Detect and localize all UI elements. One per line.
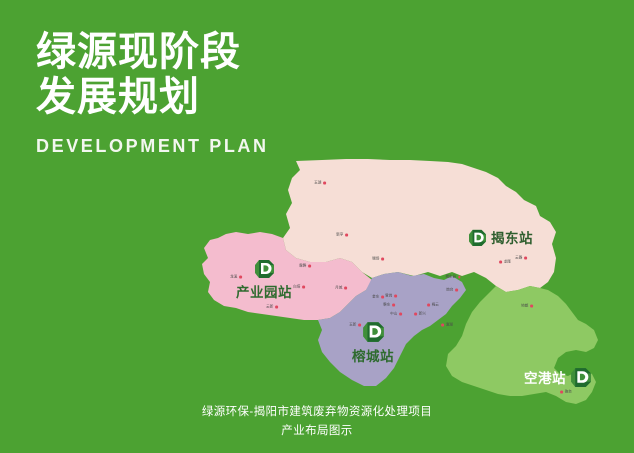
town-marker: 龙尾 bbox=[499, 260, 511, 265]
town-marker: 揭东县 bbox=[445, 275, 460, 280]
town-dot-icon bbox=[399, 313, 402, 316]
lvyuan-logo-icon bbox=[571, 366, 591, 388]
town-dot-icon bbox=[381, 258, 384, 261]
lvyuan-logo-icon bbox=[363, 320, 384, 343]
town-dot-icon bbox=[392, 304, 395, 307]
page-title-line-1: 绿源现阶段 bbox=[36, 30, 269, 75]
town-marker: 渔湖 bbox=[441, 323, 453, 328]
town-marker: 月城 bbox=[335, 286, 347, 291]
heading-block: 绿源现阶段 发展规划 DEVELOPMENT PLAN bbox=[36, 30, 269, 157]
town-marker: 云新 bbox=[266, 305, 278, 310]
station-marker-rongcheng[interactable]: 榕城站 bbox=[352, 320, 394, 365]
town-marker: 梅云 bbox=[427, 303, 439, 308]
town-marker: 锡场 bbox=[372, 257, 384, 262]
caption-line-1: 绿源环保-揭阳市建筑废弃物资源化处理项目 bbox=[0, 403, 634, 422]
station-label-jiedong: 揭东站 bbox=[491, 227, 533, 247]
caption-line-2: 产业布局图示 bbox=[0, 422, 634, 441]
lvyuan-logo-icon bbox=[469, 228, 486, 247]
station-marker-chanyeyuan[interactable]: 产业园站 bbox=[236, 258, 292, 301]
town-dot-icon bbox=[560, 391, 563, 394]
town-dot-icon bbox=[302, 286, 305, 289]
town-dot-icon bbox=[345, 234, 348, 237]
lvyuan-logo-icon bbox=[255, 258, 274, 279]
town-dot-icon bbox=[427, 304, 430, 307]
town-marker: 磐东 bbox=[383, 303, 395, 308]
town-marker: 地都 bbox=[521, 304, 533, 309]
caption-block: 绿源环保-揭阳市建筑废弃物资源化处理项目 产业布局图示 bbox=[0, 403, 634, 441]
town-dot-icon bbox=[381, 296, 384, 299]
page-title-line-2: 发展规划 bbox=[36, 75, 269, 120]
station-marker-jiedong[interactable]: 揭东站 bbox=[469, 227, 533, 247]
town-dot-icon bbox=[344, 287, 347, 290]
town-marker: 新亨 bbox=[336, 233, 348, 238]
town-marker: 砲台 bbox=[560, 390, 572, 395]
town-marker: 霖磐 bbox=[299, 264, 311, 269]
town-marker: 登岗 bbox=[385, 294, 397, 299]
town-marker: 玉湖 bbox=[314, 181, 326, 186]
town-dot-icon bbox=[441, 324, 444, 327]
station-label-rongcheng: 榕城站 bbox=[352, 345, 394, 365]
town-dot-icon bbox=[524, 257, 527, 260]
town-dot-icon bbox=[308, 265, 311, 268]
town-dot-icon bbox=[530, 305, 533, 308]
town-dot-icon bbox=[458, 276, 461, 279]
town-dot-icon bbox=[499, 261, 502, 264]
town-dot-icon bbox=[394, 295, 397, 298]
station-marker-konggang[interactable]: 空港站 bbox=[524, 366, 591, 388]
town-marker: 新兴 bbox=[414, 312, 426, 317]
town-marker: 金东 bbox=[372, 295, 384, 300]
town-marker: 中山 bbox=[390, 312, 402, 317]
town-dot-icon bbox=[455, 289, 458, 292]
page-subtitle: DEVELOPMENT PLAN bbox=[36, 136, 269, 157]
poster-root: 玉湖 新亨 锡场 龙尾 云路 白塔 霖磐 月城 龙溪 炮台 金东 登岗 磐东 梅… bbox=[0, 0, 634, 453]
town-marker: 炮台 bbox=[446, 288, 458, 293]
town-marker: 云路 bbox=[515, 256, 527, 261]
town-dot-icon bbox=[323, 182, 326, 185]
station-label-chanyeyuan: 产业园站 bbox=[236, 281, 292, 301]
station-label-konggang: 空港站 bbox=[524, 367, 566, 387]
town-dot-icon bbox=[275, 306, 278, 309]
town-marker: 白塔 bbox=[293, 285, 305, 290]
town-dot-icon bbox=[414, 313, 417, 316]
